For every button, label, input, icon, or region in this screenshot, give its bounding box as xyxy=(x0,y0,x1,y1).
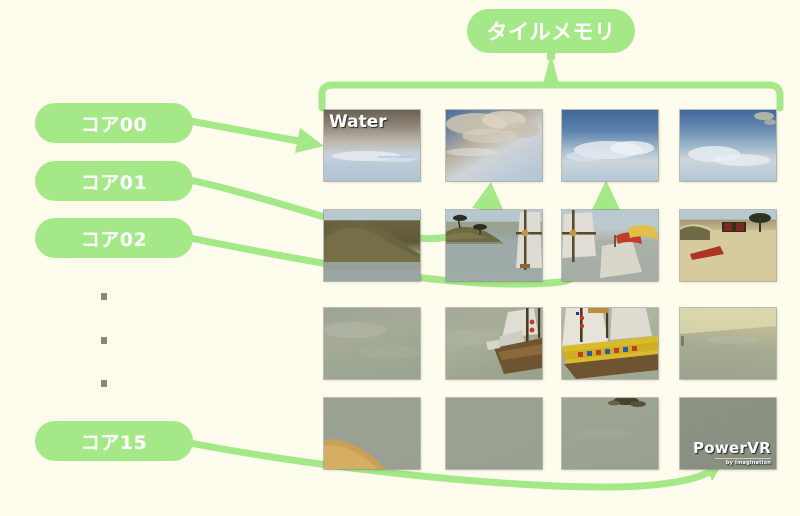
core-label-text: コア00 xyxy=(81,110,147,137)
ellipsis-dot xyxy=(101,380,107,387)
core-label-core01: コア01 xyxy=(35,161,193,201)
tile-r3c0 xyxy=(324,398,420,469)
tile-memory-label: タイルメモリ xyxy=(467,9,635,53)
tile-r1c1 xyxy=(446,210,542,281)
tile-r3c2 xyxy=(562,398,658,469)
core-label-text: コア15 xyxy=(81,428,147,455)
tile-overlay-label: Water xyxy=(329,112,387,132)
ellipsis-dot xyxy=(101,293,107,300)
tile-r0c2 xyxy=(562,110,658,181)
core-label-core15: コア15 xyxy=(35,421,193,461)
core-label-text: コア01 xyxy=(81,168,147,195)
powervr-logo-text: PowerVR xyxy=(693,439,771,457)
powervr-logo-subtext: by Imagination xyxy=(726,460,771,466)
tile-r2c2 xyxy=(562,308,658,379)
powervr-rule xyxy=(715,458,771,459)
tile-memory-bracket xyxy=(322,50,780,108)
diagram-canvas: .gl{fill:none;stroke:#a5e887;stroke-widt… xyxy=(0,0,800,516)
tile-r0c0: Water xyxy=(324,110,420,181)
tile-r2c0 xyxy=(324,308,420,379)
tile-memory-label-text: タイルメモリ xyxy=(487,16,616,46)
tile-r2c3 xyxy=(680,308,776,379)
arrow-core00 xyxy=(190,121,324,153)
tile-r0c3 xyxy=(680,110,776,181)
core-label-core02: コア02 xyxy=(35,218,193,258)
tile-r1c3 xyxy=(680,210,776,281)
tile-r1c2 xyxy=(562,210,658,281)
core-label-core00: コア00 xyxy=(35,103,193,143)
tile-r3c1 xyxy=(446,398,542,469)
tile-r0c1 xyxy=(446,110,542,181)
tile-r3c3: PowerVR by Imagination xyxy=(680,398,776,469)
tile-r1c0 xyxy=(324,210,420,281)
core-label-text: コア02 xyxy=(81,225,147,252)
ellipsis-dot xyxy=(101,337,107,344)
tile-r2c1 xyxy=(446,308,542,379)
